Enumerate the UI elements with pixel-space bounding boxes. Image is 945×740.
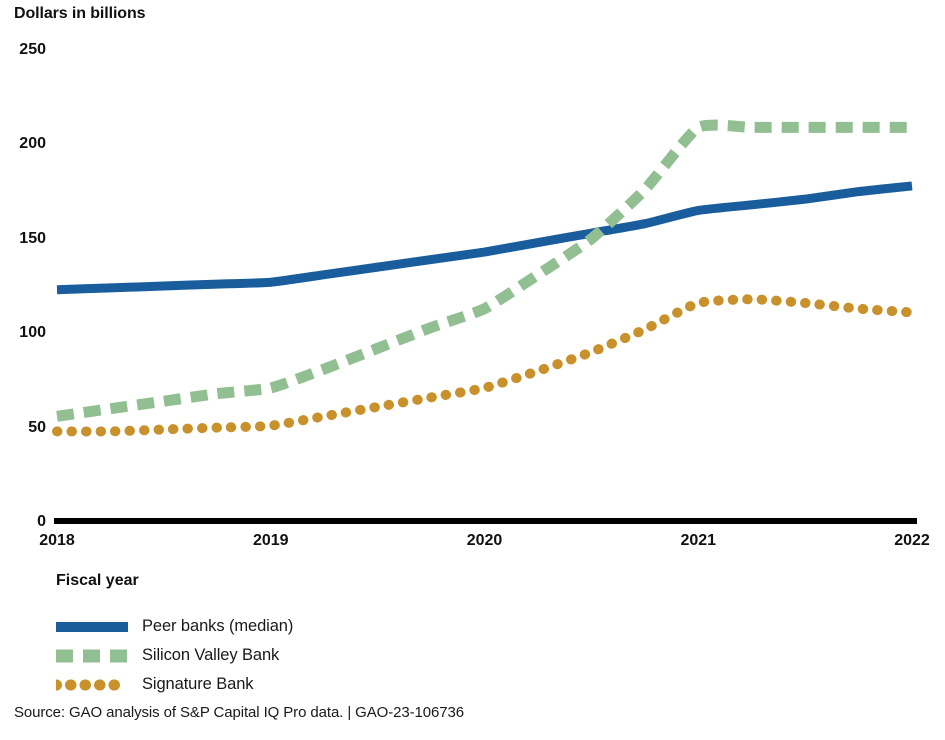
plot-area — [0, 0, 945, 560]
legend-swatch-icon-0 — [56, 616, 128, 638]
x-tick-2019: 2019 — [253, 532, 289, 550]
x-axis-label: Fiscal year — [56, 572, 139, 590]
series-line-0 — [57, 186, 912, 290]
x-tick-2020: 2020 — [467, 532, 503, 550]
chart-figure: Dollars in billions 250200150100500 2018… — [0, 0, 945, 740]
series-line-2 — [57, 299, 912, 431]
series-canvas — [0, 0, 945, 560]
source-note: Source: GAO analysis of S&P Capital IQ P… — [14, 704, 464, 721]
legend-item-1[interactable]: Silicon Valley Bank — [56, 641, 556, 670]
legend-swatch-icon-2 — [56, 674, 128, 696]
x-tick-2022: 2022 — [894, 532, 930, 550]
x-axis-line — [54, 518, 917, 524]
legend-item-2[interactable]: Signature Bank — [56, 670, 556, 699]
x-tick-2021: 2021 — [680, 532, 716, 550]
legend-label-0: Peer banks (median) — [142, 617, 293, 636]
legend: Peer banks (median)Silicon Valley BankSi… — [56, 612, 556, 699]
legend-item-0[interactable]: Peer banks (median) — [56, 612, 556, 641]
legend-label-1: Silicon Valley Bank — [142, 646, 279, 665]
legend-label-2: Signature Bank — [142, 675, 253, 694]
x-tick-2018: 2018 — [39, 532, 75, 550]
series-line-1 — [57, 125, 912, 416]
legend-swatch-icon-1 — [56, 645, 128, 667]
